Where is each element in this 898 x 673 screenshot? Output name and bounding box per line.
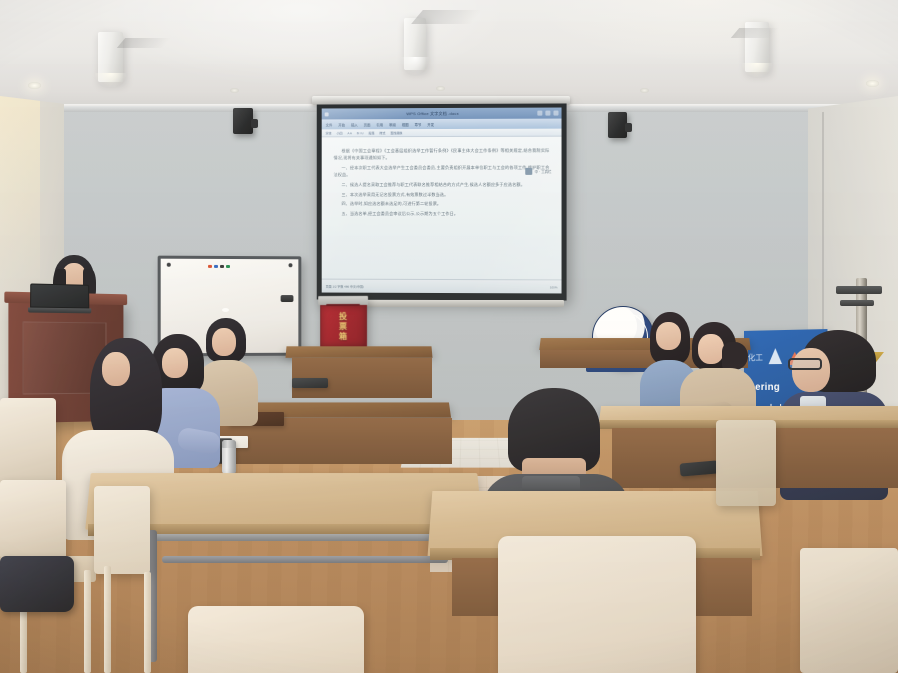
marker-blue-icon[interactable] [214,265,218,268]
paste-options-icon[interactable] [526,168,533,175]
floating-toolbar-label: 中 · 工具栏 [535,169,552,174]
ceiling-sensor [436,86,445,91]
whiteboard-clip [289,263,293,267]
pendant-light [404,18,426,70]
table-left-upper [285,346,432,358]
document-page[interactable]: 根据《中国工会章程》《工会基层组织选举工作暂行条例》《民事主体大会工作条例》等相… [322,137,562,280]
attendee-head [102,352,130,386]
silver-thermos [222,440,236,474]
chair-leg [84,570,91,673]
ribbon-tab[interactable]: 开始 [338,122,345,127]
ceiling-vent [230,88,239,93]
attendee-ponytail [722,342,748,370]
document-paragraph: 一、经本次职工代表大会选举产生工会委员会委员,主要负责组织开展本单位职工与工会的… [334,164,550,179]
styles-group[interactable]: 样式 [379,131,385,135]
eyeglasses-icon [788,358,822,370]
projection-screen: WPS Office 文字文档 .docx 文件 开始 插入 页面 引用 审阅 … [317,103,567,300]
app-icon [325,112,329,116]
chair-foreground-right[interactable] [800,548,898,673]
table-rail [162,556,448,563]
recessed-spotlight [866,80,879,87]
pipe-bracket [840,300,874,306]
ribbon-tab[interactable]: 章节 [415,122,422,127]
whiteboard-eraser[interactable] [281,295,294,302]
table-rail [150,534,450,541]
pendant-light [745,22,769,72]
document-titlebar: WPS Office 文字文档 .docx [322,108,562,120]
laptop-screen [30,283,89,308]
recessed-spotlight [28,82,41,89]
ribbon-tab[interactable]: 页面 [364,122,371,127]
laptop-keyboard[interactable] [28,307,92,313]
marker-green-icon[interactable] [226,265,230,268]
chair-foreground[interactable] [188,606,364,673]
laptop-on-table-back[interactable] [292,378,328,388]
left-wall-light-wash [0,96,40,301]
ribbon-tab[interactable]: 插入 [351,122,358,127]
whiteboard-smudge [222,308,229,312]
laptop-on-podium[interactable] [30,283,89,314]
wall-speaker-right [608,112,627,138]
ballot-char: 投 [339,312,347,321]
floating-toolbar[interactable]: 中 · 工具栏 [526,168,552,175]
pipe-bracket [836,286,882,294]
document-paragraph: 四、选举时,如应选名额未选足的,可进行第二轮投票。 [334,200,550,207]
document-title: WPS Office 文字文档 .docx [332,110,535,117]
ribbon-tab[interactable]: 视图 [402,122,409,127]
ballot-box: 投 票 箱 [318,296,368,348]
font-scale-buttons[interactable]: A A [347,131,351,135]
chair-foreground[interactable] [498,536,696,673]
font-name-selector[interactable]: 宋体 [326,131,332,135]
maximize-icon[interactable] [545,111,550,116]
find-replace-button[interactable]: 查找替换 [390,131,402,135]
pendant-light [98,32,123,82]
wall-speaker-left [233,108,253,134]
marker-black-icon[interactable] [220,265,224,268]
document-paragraph: 根据《中国工会章程》《工会基层组织选举工作暂行条例》《民事主体大会工作条例》等相… [334,147,550,162]
chair-leg [104,566,111,673]
document-paragraph: 三、本次选举采用无记名投票方式,有效票数过半数当选。 [334,190,550,197]
chair-leg [144,572,151,673]
minimize-icon[interactable] [537,111,542,116]
ribbon-tab[interactable]: 审阅 [389,122,396,127]
ribbon-tab[interactable]: 引用 [376,122,383,127]
meeting-room-photo: WPS Office 文字文档 .docx 文件 开始 插入 页面 引用 审阅 … [0,0,898,673]
ballot-slot [326,304,360,306]
document-paragraph: 五、当选名单,经工会委员会审议后公示,公示期为五个工作日。 [334,210,550,217]
ribbon-tab[interactable]: 开发 [427,122,434,127]
bold-italic-underline[interactable]: B I U [357,131,364,135]
paragraph-group[interactable]: 段落 [368,131,374,135]
ribbon-tab[interactable]: 文件 [326,122,333,127]
chair[interactable] [0,480,66,560]
marker-red-icon[interactable] [208,265,212,268]
zoom-level[interactable]: 100% [550,285,558,289]
document-statusbar: 页面 1/2 字数 486 中文(中国) 100% [322,279,562,294]
ceiling-sensor [640,88,649,93]
attendee-head [698,334,724,364]
ballot-char: 票 [339,322,347,331]
document-paragraph: 二、候选人提名采取工会推荐与职工代表联名推荐相结合的方式产生,候选人名额应多于应… [334,181,550,188]
status-left-text: 页面 1/2 字数 486 中文(中国) [326,284,364,288]
close-icon[interactable] [553,111,558,116]
thermos-cap [222,440,236,448]
window-buttons[interactable] [537,111,558,116]
whiteboard-markers[interactable] [208,265,230,268]
ballot-box-body: 投 票 箱 [320,305,367,348]
ballot-char: 箱 [339,332,347,341]
font-size-selector[interactable]: 小四 [337,131,343,135]
attendee-head [792,348,830,392]
dark-backpack[interactable] [0,556,74,612]
chair[interactable] [94,486,150,574]
chair[interactable] [716,420,776,506]
whiteboard-clip [167,263,171,267]
